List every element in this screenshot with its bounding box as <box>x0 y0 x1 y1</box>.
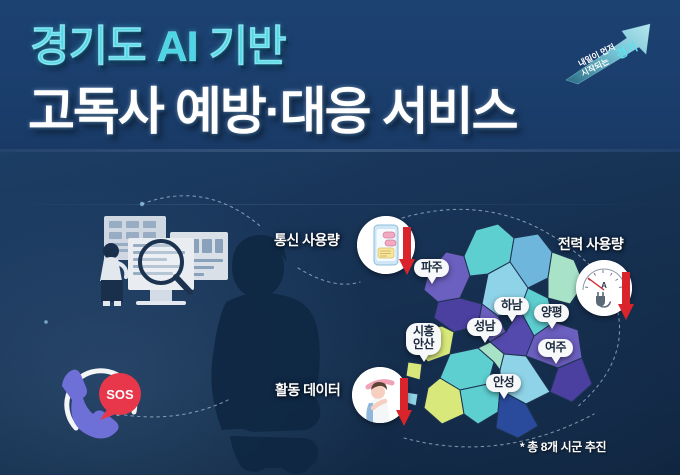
header-banner: 경기도 AI 기반 고독사 예방·대응 서비스 내일이 먼저 시작되는 <box>0 0 680 152</box>
map-pin-tail <box>547 321 557 329</box>
map-pin-tail <box>427 276 437 284</box>
red-down-arrow-activity <box>396 378 412 426</box>
data-source-label-power: 전력 사용량 <box>558 234 623 254</box>
sos-emergency-call-icon: SOS <box>58 356 162 452</box>
map-pin-siheung-ansan[interactable]: 시흥 안산 <box>406 323 441 362</box>
ammeter-unit: A <box>601 281 607 290</box>
data-analysis-illustration <box>78 208 238 318</box>
map-pin-tail <box>419 354 429 362</box>
map-pin-label: 안성 <box>486 374 521 392</box>
red-down-arrow-power <box>618 272 634 320</box>
map-pin-label: 하남 <box>494 297 529 315</box>
footnote-text: * 총 8개 시군 추진 <box>520 438 606 455</box>
map-pin-yangpyeong[interactable]: 양평 <box>534 304 569 329</box>
gyeonggi-province-slogan-logo: 내일이 먼저 시작되는 경기 <box>564 14 668 86</box>
sos-label: SOS <box>106 387 134 402</box>
red-down-arrow-communication <box>399 227 415 275</box>
map-pin-label: 여주 <box>538 339 573 357</box>
data-source-label-communication: 통신 사용량 <box>274 230 339 250</box>
map-pin-hanam[interactable]: 하남 <box>494 297 529 322</box>
page-title-line2: 고독사 예방·대응 서비스 <box>28 86 517 137</box>
map-pin-label: 시흥 안산 <box>406 323 441 355</box>
map-pin-label: 파주 <box>414 259 449 277</box>
map-pin-label: 양평 <box>534 304 569 322</box>
map-pin-paju[interactable]: 파주 <box>414 259 449 284</box>
map-pin-tail <box>499 391 509 399</box>
data-source-label-activity: 활동 데이터 <box>275 380 340 400</box>
infographic-root: 경기도 AI 기반 고독사 예방·대응 서비스 내일이 먼저 시작되는 <box>0 0 680 475</box>
map-pin-anseong[interactable]: 안성 <box>486 374 521 399</box>
map-pin-tail <box>480 335 490 343</box>
page-title-line1: 경기도 AI 기반 <box>30 26 286 69</box>
map-pin-tail <box>507 314 517 322</box>
map-pin-tail <box>551 356 561 364</box>
diagram-body: SOS <box>0 152 680 475</box>
map-pin-yeoju[interactable]: 여주 <box>538 339 573 364</box>
